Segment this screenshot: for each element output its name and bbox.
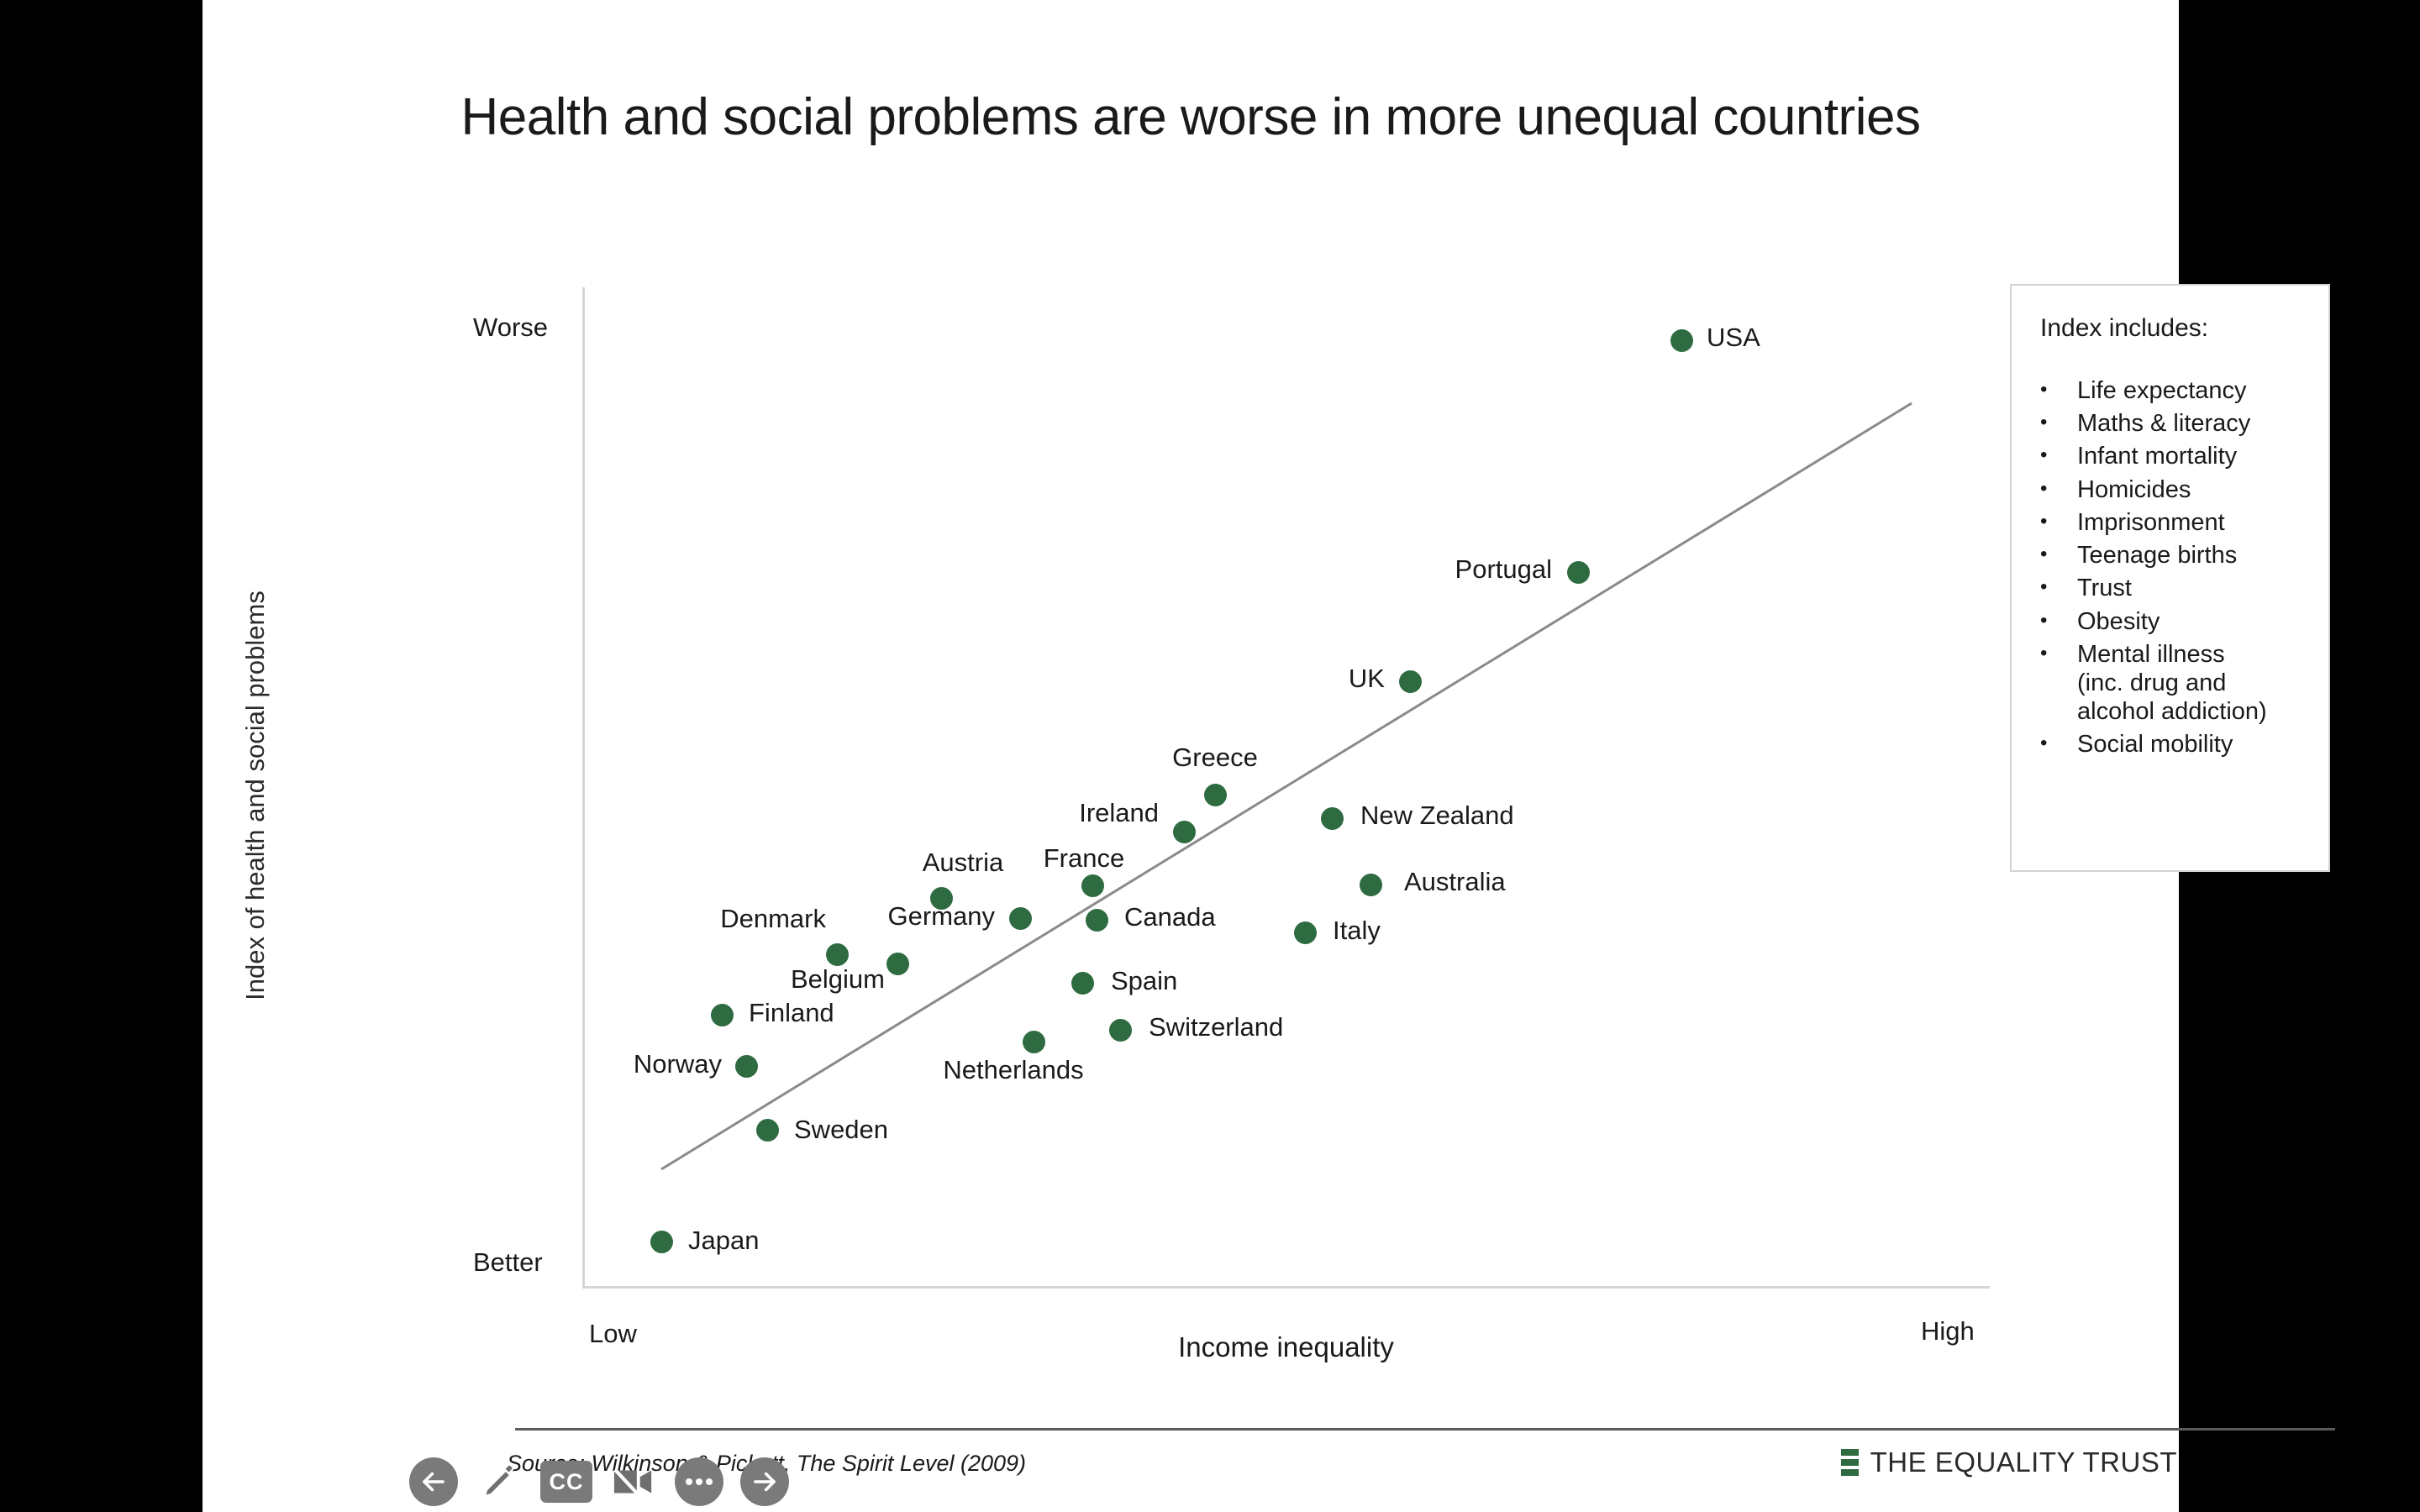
index-legend-item-label: Imprisonment [2077, 508, 2328, 537]
bullet-icon: • [2040, 541, 2077, 570]
scatter-point-sweden[interactable] [756, 1119, 779, 1142]
bullet-icon: • [2040, 409, 2077, 438]
scatter-point-belgium[interactable] [886, 953, 909, 975]
page-title: Health and social problems are worse in … [203, 87, 2179, 147]
player-controls: CC [409, 1457, 789, 1506]
index-item-text: Imprisonment [2077, 509, 2225, 536]
index-legend-item-label: Social mobility [2077, 730, 2328, 759]
index-legend-item-label: Life expectancy [2077, 376, 2328, 405]
bullet-icon: • [2040, 730, 2077, 759]
index-item-text: Life expectancy [2077, 377, 2247, 404]
index-legend-item: •Infant mortality [2040, 442, 2328, 470]
index-item-text: Teenage births [2077, 542, 2237, 569]
forward-arrow-icon[interactable] [740, 1457, 789, 1506]
index-legend-item: •Homicides [2040, 475, 2328, 504]
index-legend-item: •Obesity [2040, 607, 2328, 636]
index-legend-item-label: Mental illness(inc. drug andalcohol addi… [2077, 640, 2328, 727]
x-axis-title: Income inequality [582, 1331, 1990, 1363]
index-legend-item: •Life expectancy [2040, 376, 2328, 405]
bullet-icon: • [2040, 475, 2077, 504]
scatter-point-new-zealand[interactable] [1321, 807, 1344, 830]
slide-canvas: Health and social problems are worse in … [203, 0, 2179, 1512]
more-options-icon[interactable] [675, 1457, 723, 1506]
index-item-text: Mental illness [2077, 641, 2225, 668]
scatter-point-canada[interactable] [1086, 909, 1108, 932]
scatter-point-austria[interactable] [930, 887, 953, 910]
scatter-point-germany[interactable] [1009, 907, 1032, 930]
index-item-text: Obesity [2077, 608, 2160, 635]
logo-text: THE EQUALITY TRUST [1870, 1446, 2177, 1478]
footer-divider [515, 1428, 2335, 1431]
scatter-point-italy[interactable] [1294, 921, 1317, 944]
pen-icon[interactable] [475, 1457, 523, 1506]
closed-captions-icon[interactable]: CC [540, 1461, 592, 1503]
index-legend-item: •Social mobility [2040, 730, 2328, 759]
scatter-point-greece[interactable] [1204, 784, 1227, 806]
index-item-continuation: (inc. drug and [2077, 669, 2328, 697]
index-legend-item: •Imprisonment [2040, 508, 2328, 537]
y-axis-high-label: Worse [473, 312, 548, 343]
y-axis-low-label: Better [473, 1247, 543, 1278]
scatter-point-netherlands[interactable] [1023, 1031, 1045, 1053]
equality-trust-logo: THE EQUALITY TRUST [1841, 1446, 2177, 1478]
index-item-continuation: alcohol addiction) [2077, 697, 2328, 726]
bullet-icon: • [2040, 376, 2077, 405]
bullet-icon: • [2040, 640, 2077, 727]
index-legend-item-label: Infant mortality [2077, 442, 2328, 470]
bullet-icon: • [2040, 442, 2077, 470]
scatter-point-switzerland[interactable] [1109, 1019, 1132, 1042]
index-legend-item-label: Teenage births [2077, 541, 2328, 570]
camera-off-icon[interactable] [609, 1457, 658, 1506]
index-item-text: Trust [2077, 575, 2132, 601]
bullet-icon: • [2040, 574, 2077, 602]
y-axis-title: Index of health and social problems [240, 535, 271, 1056]
scatter-point-france[interactable] [1081, 874, 1104, 897]
index-item-text: Infant mortality [2077, 443, 2237, 470]
back-arrow-icon[interactable] [409, 1457, 458, 1506]
index-legend-heading: Index includes: [2040, 314, 2328, 343]
scatter-point-japan[interactable] [650, 1231, 673, 1253]
index-legend-box: Index includes: •Life expectancy•Maths &… [2010, 284, 2330, 872]
bullet-icon: • [2040, 607, 2077, 636]
logo-mark-icon [1841, 1449, 1859, 1476]
index-legend-item-label: Trust [2077, 574, 2328, 602]
bullet-icon: • [2040, 508, 2077, 537]
scatter-point-portugal[interactable] [1567, 561, 1590, 584]
scatter-point-denmark[interactable] [826, 943, 849, 966]
plot-frame [582, 287, 1990, 1289]
screen: Health and social problems are worse in … [0, 0, 2420, 1512]
index-legend-item: •Trust [2040, 574, 2328, 602]
scatter-point-norway[interactable] [735, 1055, 758, 1078]
index-item-text: Homicides [2077, 476, 2191, 503]
scatter-point-spain[interactable] [1071, 972, 1094, 995]
scatter-point-uk[interactable] [1399, 670, 1422, 693]
index-legend-item-label: Obesity [2077, 607, 2328, 636]
index-legend-item: •Teenage births [2040, 541, 2328, 570]
index-legend-item: •Mental illness(inc. drug andalcohol add… [2040, 640, 2328, 727]
scatter-point-usa[interactable] [1670, 329, 1693, 352]
index-item-text: Social mobility [2077, 731, 2233, 758]
scatter-point-ireland[interactable] [1173, 821, 1196, 843]
index-item-text: Maths & literacy [2077, 410, 2250, 437]
index-legend-item: •Maths & literacy [2040, 409, 2328, 438]
index-legend-item-label: Maths & literacy [2077, 409, 2328, 438]
scatter-point-australia[interactable] [1360, 874, 1382, 896]
scatter-point-finland[interactable] [711, 1004, 734, 1026]
index-legend-list: •Life expectancy•Maths & literacy•Infant… [2040, 376, 2328, 759]
index-legend-item-label: Homicides [2077, 475, 2328, 504]
